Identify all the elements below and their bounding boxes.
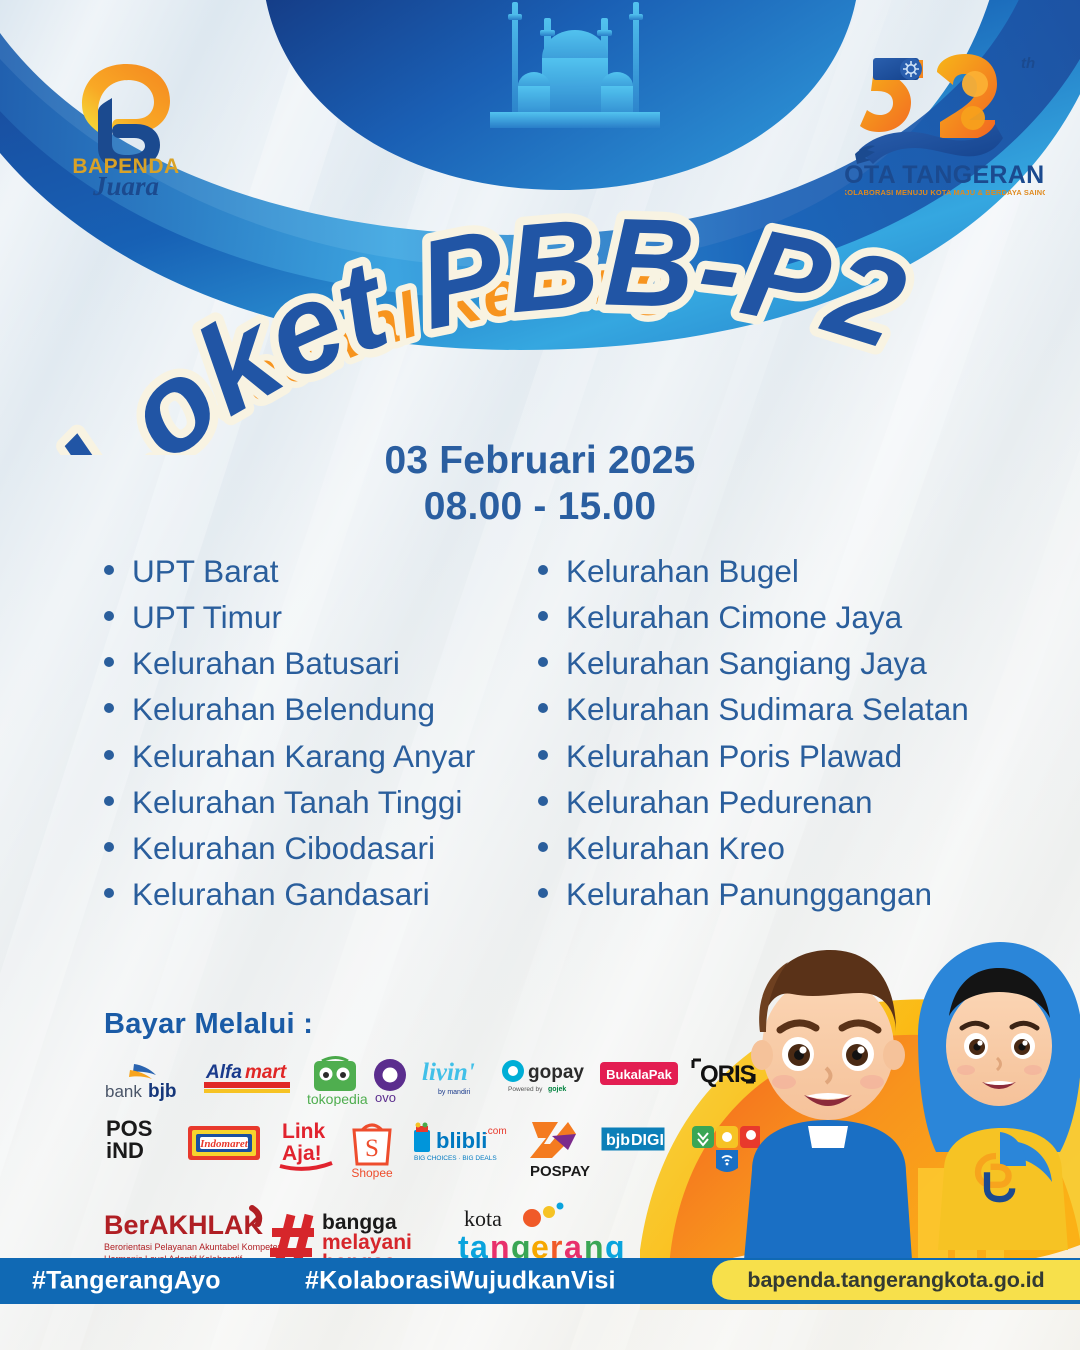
list-item: UPT Timur: [104, 594, 475, 640]
list-item: Kelurahan Bugel: [538, 548, 969, 594]
livin-logo: livin' by mandiri: [422, 1059, 475, 1096]
bullet-icon: [104, 611, 114, 621]
location-label: UPT Timur: [132, 594, 282, 640]
berakhlak-logo: BerAKHLAK Berorientasi Pelayanan Akuntab…: [104, 1208, 283, 1264]
location-label: Kelurahan Bugel: [566, 548, 799, 594]
bullet-icon: [538, 565, 548, 575]
bullet-icon: [538, 888, 548, 898]
alfamart-logo: Alfa mart: [204, 1062, 290, 1093]
bullet-icon: [104, 657, 114, 667]
svg-text:Powered by: Powered by: [508, 1086, 543, 1093]
linkaja-logo: Link Aja!: [280, 1120, 332, 1169]
svg-text:BerAKHLAK: BerAKHLAK: [104, 1210, 264, 1240]
blibli-logo: blibli .com BIG CHOICES · BIG DEALS: [414, 1123, 507, 1163]
svg-text:kota: kota: [464, 1206, 502, 1231]
location-column-left: UPT Barat UPT Timur Kelurahan Batusari K…: [104, 548, 475, 917]
list-item: Kelurahan Batusari: [104, 640, 475, 686]
girl-hijab-mascot: [918, 942, 1080, 1250]
list-item: Kelurahan Panunggangan: [538, 871, 969, 917]
bullet-icon: [538, 611, 548, 621]
list-item: Kelurahan Poris Plawad: [538, 733, 969, 779]
svg-text:blibli: blibli: [436, 1128, 487, 1153]
hashtag-kolaborasi-wujudkan-visi: #KolaborasiWujudkanVisi: [305, 1267, 616, 1296]
hashtag-tangerang-ayo: #TangerangAyo: [32, 1267, 221, 1296]
shopee-logo: S Shopee: [351, 1125, 393, 1180]
bullet-icon: [104, 842, 114, 852]
location-label: Kelurahan Cimone Jaya: [566, 594, 902, 640]
svg-text:livin': livin': [422, 1059, 475, 1086]
bullet-icon: [104, 796, 114, 806]
list-item: Kelurahan Gandasari: [104, 871, 475, 917]
bullet-icon: [538, 842, 548, 852]
svg-text:iND: iND: [106, 1138, 144, 1163]
bullet-icon: [538, 703, 548, 713]
bullet-icon: [104, 888, 114, 898]
location-label: Kelurahan Cibodasari: [132, 825, 435, 871]
list-item: Kelurahan Cibodasari: [104, 825, 475, 871]
location-label: Kelurahan Sangiang Jaya: [566, 640, 927, 686]
schedule-time: 08.00 - 15.00: [0, 484, 1080, 530]
list-item: Kelurahan Sangiang Jaya: [538, 640, 969, 686]
svg-text:Shopee: Shopee: [351, 1166, 393, 1180]
anniversary-superscript: th: [1021, 55, 1035, 72]
location-label: Kelurahan Gandasari: [132, 871, 430, 917]
svg-text:by mandiri: by mandiri: [438, 1089, 471, 1096]
list-item: UPT Barat: [104, 548, 475, 594]
list-item: Kelurahan Sudimara Selatan: [538, 686, 969, 732]
bullet-icon: [538, 657, 548, 667]
svg-text:BIG CHOICES · BIG DEALS: BIG CHOICES · BIG DEALS: [414, 1155, 497, 1162]
location-label: Kelurahan Karang Anyar: [132, 733, 475, 779]
poster-title: Jadwal Keliling Loket PBB-P2: [0, 185, 1080, 455]
svg-text:ovo: ovo: [375, 1090, 396, 1105]
svg-text:DIGI: DIGI: [631, 1132, 664, 1149]
svg-text:S: S: [365, 1135, 379, 1162]
svg-text:bank: bank: [105, 1082, 142, 1101]
list-item: Kelurahan Karang Anyar: [104, 733, 475, 779]
kota-tangerang-anniversary-logo: KOTA TANGERANG KOLABORASI MENUJU KOTA MA…: [845, 42, 1045, 202]
payment-logos-row-1: bank bjb Alfa mart tokopedia: [100, 1050, 760, 1106]
payment-logos-row-2: POS iND Indomaret Link Aja! S: [100, 1108, 760, 1180]
location-label: Kelurahan Pedurenan: [566, 779, 873, 825]
svg-text:POSPAY: POSPAY: [530, 1163, 590, 1180]
mosque-silhouette: [490, 2, 660, 128]
payment-heading: Bayar Melalui :: [104, 1008, 313, 1041]
website-url-pill[interactable]: bapenda.tangerangkota.go.id: [712, 1260, 1080, 1300]
svg-text:bjb: bjb: [606, 1132, 630, 1149]
boy-mascot: [744, 950, 912, 1260]
bukalapak-logo: BukalaPak: [600, 1062, 678, 1085]
mascot-illustration: [700, 920, 1080, 1310]
svg-text:Aja!: Aja!: [282, 1142, 322, 1165]
svg-text:mart: mart: [245, 1062, 287, 1083]
svg-text:Link: Link: [282, 1120, 325, 1143]
svg-text:bjb: bjb: [148, 1081, 177, 1102]
list-item: Kelurahan Tanah Tinggi: [104, 779, 475, 825]
svg-text:gojek: gojek: [548, 1086, 566, 1093]
bapenda-juara-logo: BAPENDA Juara: [56, 52, 196, 197]
indomaret-logo: Indomaret: [188, 1126, 260, 1160]
bullet-icon: [538, 796, 548, 806]
title-line-2: Loket PBB-P2: [33, 193, 920, 455]
svg-text:BukalaPak: BukalaPak: [606, 1067, 673, 1082]
location-label: Kelurahan Panunggangan: [566, 871, 932, 917]
location-label: UPT Barat: [132, 548, 278, 594]
location-column-right: Kelurahan Bugel Kelurahan Cimone Jaya Ke…: [538, 548, 969, 917]
bullet-icon: [104, 750, 114, 760]
schedule-date: 03 Februari 2025: [0, 438, 1080, 484]
svg-text:tokopedia: tokopedia: [307, 1091, 368, 1106]
location-label: Kelurahan Poris Plawad: [566, 733, 902, 779]
location-label: Kelurahan Belendung: [132, 686, 435, 732]
gopay-logo: gopay Powered by gojek: [502, 1060, 584, 1093]
poster-canvas: BAPENDA Juara: [0, 0, 1080, 1350]
list-item: Kelurahan Belendung: [104, 686, 475, 732]
svg-text:gopay: gopay: [528, 1062, 584, 1083]
svg-text:.com: .com: [485, 1126, 507, 1137]
location-label: Kelurahan Tanah Tinggi: [132, 779, 462, 825]
schedule-block: 03 Februari 2025 08.00 - 15.00: [0, 438, 1080, 530]
svg-text:Indomaret: Indomaret: [199, 1138, 249, 1150]
bjb-digi-logo: bjb DIGI: [602, 1128, 664, 1150]
tokopedia-logo: tokopedia: [307, 1058, 368, 1107]
list-item: Kelurahan Pedurenan: [538, 779, 969, 825]
list-item: Kelurahan Cimone Jaya: [538, 594, 969, 640]
location-label: Kelurahan Batusari: [132, 640, 400, 686]
ovo-logo: ovo: [374, 1059, 406, 1105]
location-label: Kelurahan Sudimara Selatan: [566, 686, 969, 732]
pospay-logo: POSPAY: [530, 1122, 590, 1180]
bullet-icon: [104, 703, 114, 713]
bank-bjb-logo: bank bjb: [105, 1064, 177, 1102]
website-url-text: bapenda.tangerangkota.go.id: [747, 1268, 1044, 1293]
svg-text:Alfa: Alfa: [205, 1062, 242, 1083]
pos-ind-logo: POS iND: [106, 1116, 152, 1163]
bullet-icon: [104, 565, 114, 575]
list-item: Kelurahan Kreo: [538, 825, 969, 871]
bullet-icon: [538, 750, 548, 760]
location-label: Kelurahan Kreo: [566, 825, 785, 871]
svg-text:Berorientasi Pelayanan Akuntab: Berorientasi Pelayanan Akuntabel Kompete…: [104, 1242, 283, 1252]
